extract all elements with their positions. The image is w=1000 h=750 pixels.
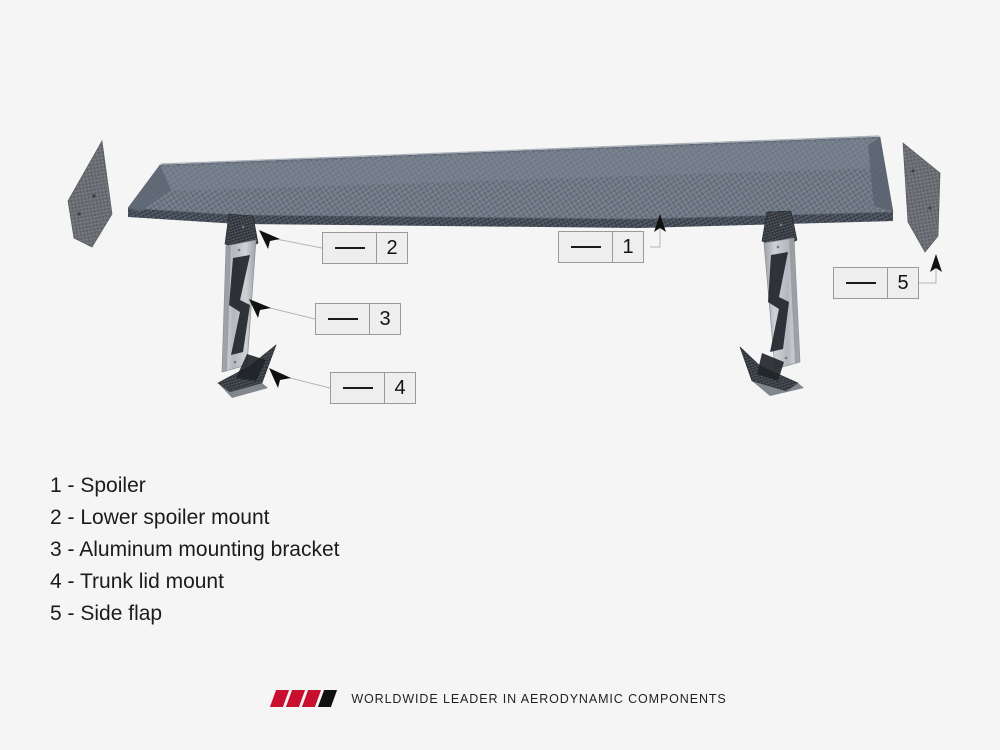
callout-box-4[interactable]: 4 — [330, 372, 416, 404]
legend-item-4: 4 - Trunk lid mount — [50, 566, 550, 598]
legend-separator-3: - — [68, 538, 75, 561]
legend-number-1: 1 — [50, 474, 62, 497]
callout-dash-cell-1 — [559, 232, 613, 262]
leader-line-2 — [276, 239, 322, 248]
legend-number-5: 5 — [50, 602, 62, 625]
parts-legend: 1 - Spoiler 2 - Lower spoiler mount 3 - … — [50, 470, 550, 630]
brand-logo-icon — [273, 690, 337, 707]
callout-dash-icon-3 — [328, 318, 358, 320]
legend-item-5: 5 - Side flap — [50, 598, 550, 630]
callout-box-1[interactable]: 1 — [558, 231, 644, 263]
callout-number-1: 1 — [613, 232, 643, 262]
right-aluminum-bracket — [764, 238, 800, 369]
footer-tagline: WORLDWIDE LEADER IN AERODYNAMIC COMPONEN… — [351, 692, 726, 706]
legend-label-1: Spoiler — [80, 474, 145, 497]
callout-number-2: 2 — [377, 233, 407, 263]
leader-line-4 — [286, 377, 330, 388]
callout-dash-icon-2 — [335, 247, 365, 249]
callout-dash-cell-5 — [834, 268, 888, 298]
callout-dash-cell-3 — [316, 304, 370, 334]
logo-bar-4 — [318, 690, 337, 707]
legend-separator-5: - — [68, 602, 75, 625]
left-aluminum-bracket — [222, 240, 256, 372]
product-illustration — [0, 0, 1000, 750]
arrowhead-2 — [259, 230, 280, 249]
arrowhead-3 — [249, 299, 271, 318]
legend-item-3: 3 - Aluminum mounting bracket — [50, 534, 550, 566]
callout-number-5: 5 — [888, 268, 918, 298]
right-upright-assembly — [740, 211, 804, 396]
left-side-flap — [68, 141, 112, 247]
arrowhead-4 — [269, 368, 291, 388]
legend-item-2: 2 - Lower spoiler mount — [50, 502, 550, 534]
legend-separator-2: - — [68, 506, 75, 529]
legend-label-4: Trunk lid mount — [80, 570, 224, 593]
callout-box-2[interactable]: 2 — [322, 232, 408, 264]
callout-box-5[interactable]: 5 — [833, 267, 919, 299]
callout-number-3: 3 — [370, 304, 400, 334]
diagram-stage: 1 2 3 4 5 1 - Spoiler 2 - L — [0, 0, 1000, 750]
legend-separator-1: - — [68, 474, 75, 497]
callout-dash-cell-2 — [323, 233, 377, 263]
legend-label-2: Lower spoiler mount — [80, 506, 269, 529]
leader-line-3 — [266, 307, 315, 319]
legend-item-1: 1 - Spoiler — [50, 470, 550, 502]
callout-number-4: 4 — [385, 373, 415, 403]
callout-dash-icon-5 — [846, 282, 876, 284]
legend-separator-4: - — [68, 570, 75, 593]
legend-label-5: Side flap — [80, 602, 162, 625]
callout-dash-icon-4 — [343, 387, 373, 389]
legend-label-3: Aluminum mounting bracket — [79, 538, 339, 561]
footer-bar: WORLDWIDE LEADER IN AERODYNAMIC COMPONEN… — [0, 690, 1000, 707]
right-side-flap — [903, 143, 940, 252]
legend-number-2: 2 — [50, 506, 62, 529]
callout-box-3[interactable]: 3 — [315, 303, 401, 335]
legend-number-3: 3 — [50, 538, 62, 561]
legend-number-4: 4 — [50, 570, 62, 593]
callout-dash-cell-4 — [331, 373, 385, 403]
callout-dash-icon-1 — [571, 246, 601, 248]
